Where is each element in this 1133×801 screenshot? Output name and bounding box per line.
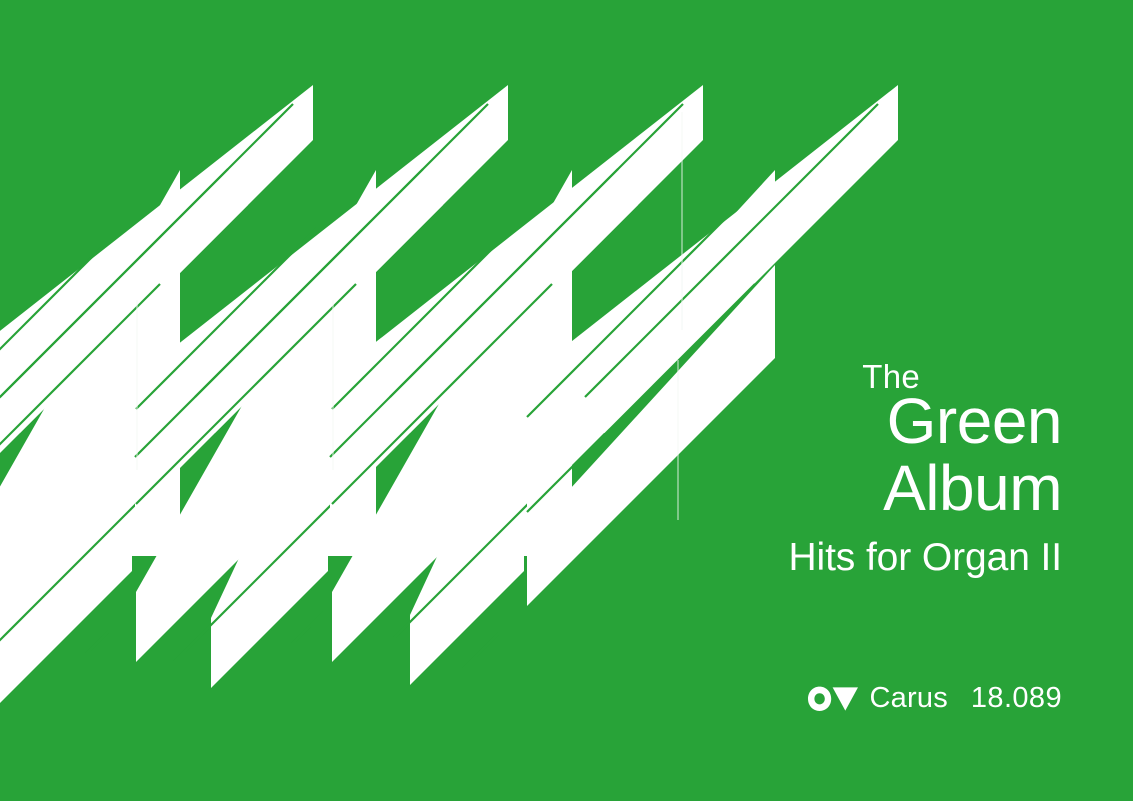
- title-line-album: Album: [642, 456, 1062, 520]
- catalog-number: 18.089: [971, 682, 1062, 715]
- title-block: The Green Album Hits for Organ II: [642, 360, 1062, 577]
- album-cover: The Green Album Hits for Organ II Carus …: [0, 0, 1133, 801]
- carus-logo-icon: [807, 686, 859, 712]
- subtitle: Hits for Organ II: [642, 538, 1062, 577]
- publisher-name: Carus: [870, 682, 948, 715]
- publisher-block: Carus 18.089: [807, 682, 1062, 715]
- title-line-green: Green: [642, 389, 1062, 453]
